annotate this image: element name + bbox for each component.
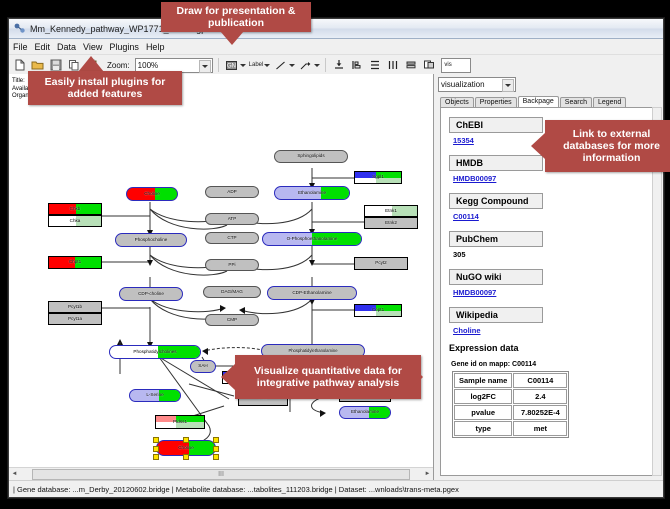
- table-cell-key: log2FC: [454, 389, 512, 404]
- chevron-down-icon[interactable]: [502, 79, 514, 92]
- menu-item-edit[interactable]: Edit: [35, 42, 51, 52]
- table-cell-key: pvalue: [454, 405, 512, 420]
- node-label: CDP-Ethanolamine: [292, 291, 331, 296]
- callout-plugins: Easily install plugins for added feature…: [28, 71, 182, 105]
- node-label: Ethanolamine: [351, 410, 379, 415]
- table-cell-key: type: [454, 421, 512, 436]
- node-label: O-Phosphoethanolamine: [287, 237, 338, 242]
- node-label: Ethanolamine: [298, 191, 326, 196]
- node-ppi[interactable]: PPi: [205, 259, 259, 271]
- node-l-serine-left[interactable]: L-Serine: [129, 389, 181, 402]
- node-cdp-choline[interactable]: CDP-choline: [119, 287, 183, 301]
- distribute-horizontal-icon[interactable]: [385, 58, 400, 73]
- node-label: ADP: [227, 190, 236, 195]
- node-cmp[interactable]: CMP: [205, 314, 259, 326]
- callout-visualize: Visualize quantitative data for integrat…: [235, 355, 421, 399]
- selection-handle[interactable]: [213, 446, 219, 452]
- callout-plugins-arrow-icon: [78, 56, 104, 72]
- scroll-thumb[interactable]: III: [32, 469, 410, 480]
- selection-handle[interactable]: [153, 454, 159, 460]
- zoom-value: 100%: [138, 61, 158, 70]
- svg-text:GN: GN: [227, 63, 236, 69]
- table-row: Sample name C00114: [454, 373, 567, 388]
- node-phosphocholine[interactable]: Phosphocholine: [115, 233, 187, 247]
- gene-id-line: Gene id on mapp: C00114: [451, 361, 644, 368]
- align-top-icon[interactable]: [331, 58, 346, 73]
- callout-draw: Draw for presentation & publication: [161, 2, 311, 32]
- table-cell-value: 7.80252E-4: [513, 405, 567, 420]
- tab-legend[interactable]: Legend: [593, 97, 626, 107]
- db-header-wikipedia: Wikipedia: [449, 307, 543, 323]
- status-bar: | Gene database: ...m_Derby_20120602.bri…: [9, 480, 663, 497]
- pathway-editor-pane[interactable]: Title: Availab Organis: [9, 74, 434, 480]
- selection-handle[interactable]: [213, 454, 219, 460]
- canvas-horizontal-scrollbar[interactable]: ◄ III ►: [9, 467, 433, 480]
- node-label: DAG/MAG: [221, 290, 243, 295]
- line-tool-dropdown[interactable]: [273, 58, 295, 73]
- table-row: type met: [454, 421, 567, 436]
- gene-label: Etnk2: [385, 221, 397, 226]
- menu-item-help[interactable]: Help: [146, 42, 165, 52]
- expression-table: Sample name C00114 log2FC 2.4 pvalue 7.8…: [452, 371, 569, 438]
- align-left-icon[interactable]: [349, 58, 364, 73]
- node-phosphatidylcholines[interactable]: Phosphatidylcholines: [109, 345, 201, 359]
- node-sah[interactable]: SAH: [190, 360, 216, 373]
- gene-pcyt1b[interactable]: Pcyt1b: [48, 301, 102, 313]
- node-sphingolipids[interactable]: Sphingolipids: [274, 150, 348, 163]
- screenshot-root: Mm_Kennedy_pathway_WP1771_45176.gpml Fil…: [0, 0, 670, 509]
- node-ethanolamine-top[interactable]: Ethanolamine: [274, 186, 350, 200]
- gene-etnk2[interactable]: Etnk2: [364, 217, 418, 229]
- callout-visualize-arrow-right-icon: [409, 363, 423, 391]
- gene-label: Pcyt1b: [68, 305, 82, 310]
- gene-label: Chkb: [70, 207, 81, 212]
- db-header-nugo-wiki: NuGO wiki: [449, 269, 543, 285]
- chevron-down-icon[interactable]: [289, 64, 295, 67]
- gene-label: Chpt1: [69, 260, 81, 265]
- zoom-label: Zoom:: [107, 61, 130, 70]
- callout-links-text: Link to external databases for more info…: [549, 128, 670, 164]
- pathvisio-icon: [13, 22, 26, 35]
- node-ethanolamine-right[interactable]: Ethanolamine: [339, 406, 391, 419]
- gene-label: Cept1: [372, 308, 384, 313]
- expression-data-heading: Expression data: [449, 343, 644, 353]
- menubar: File Edit Data View Plugins Help: [9, 39, 663, 55]
- node-label: CMP: [227, 318, 237, 323]
- scroll-grip: III: [218, 471, 224, 478]
- callout-plugins-text: Easily install plugins for added feature…: [32, 76, 178, 100]
- line-icon[interactable]: [273, 58, 288, 73]
- gene-label: Ptdss1: [173, 420, 187, 425]
- callout-links: Link to external databases for more info…: [545, 120, 670, 172]
- selection-handle[interactable]: [183, 454, 189, 460]
- table-cell-value: C00114: [513, 373, 567, 388]
- db-header-kegg-compound: Kegg Compound: [449, 193, 543, 209]
- node-label: PPi: [228, 263, 235, 268]
- new-file-icon[interactable]: [12, 58, 27, 73]
- selection-handle[interactable]: [183, 437, 189, 443]
- visualization-value: visualization: [441, 80, 485, 89]
- gene-chkb[interactable]: Chkb: [48, 203, 102, 215]
- toolbar-separator: [218, 58, 219, 72]
- table-cell-value: met: [513, 421, 567, 436]
- scroll-left-arrow-icon[interactable]: ◄: [9, 469, 20, 479]
- chevron-down-icon[interactable]: [199, 60, 211, 73]
- node-adp[interactable]: ADP: [205, 186, 259, 198]
- gene-etnk1[interactable]: Etnk1: [364, 205, 418, 217]
- callout-visualize-text: Visualize quantitative data for integrat…: [241, 365, 415, 389]
- table-row: pvalue 7.80252E-4: [454, 405, 567, 420]
- gene-label: Sgpl1: [372, 175, 384, 180]
- node-label: SAH: [198, 364, 207, 369]
- node-label: CDP-choline: [138, 292, 164, 297]
- gene-label: Etnk1: [385, 209, 397, 214]
- chevron-down-icon[interactable]: [240, 64, 246, 67]
- gene-pcyt2[interactable]: Pcyt2: [354, 257, 408, 270]
- node-o-phosphoethanolamine[interactable]: O-Phosphoethanolamine: [262, 232, 362, 246]
- db-link-wikipedia[interactable]: Choline: [453, 326, 644, 335]
- label-dropdown-label: Label: [249, 62, 264, 68]
- side-panel-tabs: Objects Properties Backpage Search Legen…: [440, 94, 663, 107]
- db-header-pubchem: PubChem: [449, 231, 543, 247]
- menu-item-view[interactable]: View: [83, 42, 102, 52]
- node-label: Phosphocholine: [135, 238, 168, 243]
- node-label: CTP: [227, 236, 236, 241]
- datanode-dropdown[interactable]: GN: [224, 58, 246, 73]
- db-value-pubchem: 305: [453, 250, 644, 259]
- table-row: log2FC 2.4: [454, 389, 567, 404]
- datanode-icon[interactable]: GN: [224, 58, 239, 73]
- node-ctp[interactable]: CTP: [205, 232, 259, 244]
- anchor-arrow-icon[interactable]: [298, 58, 313, 73]
- selection-handle[interactable]: [213, 437, 219, 443]
- node-label: Sphingolipids: [297, 154, 324, 159]
- tab-properties[interactable]: Properties: [475, 97, 517, 107]
- chevron-down-icon[interactable]: [314, 64, 320, 67]
- selection-handle[interactable]: [153, 446, 159, 452]
- node-label: Phosphatidylcholines: [133, 350, 176, 355]
- node-cdp-ethanolamine[interactable]: CDP-Ethanolamine: [267, 286, 357, 300]
- db-header-chebi: ChEBI: [449, 117, 543, 133]
- overflow-combo-value: vis: [444, 62, 451, 68]
- menu-item-plugins[interactable]: Plugins: [109, 42, 139, 52]
- gene-ptdss1[interactable]: Ptdss1: [155, 415, 205, 429]
- scroll-right-arrow-icon[interactable]: ►: [422, 469, 433, 479]
- interaction-tool-dropdown[interactable]: [298, 58, 320, 73]
- pathway-canvas[interactable]: Sphingolipids Ethanolamine O-Phosphoetha…: [9, 74, 433, 468]
- node-label: Phosphatidylethanolamine: [288, 349, 337, 353]
- visualization-row: visualization: [434, 74, 663, 92]
- menu-item-data[interactable]: Data: [57, 42, 76, 52]
- node-choline-top[interactable]: Choline: [126, 187, 178, 201]
- tab-objects[interactable]: Objects: [440, 97, 474, 107]
- gene-label: Pcyt1a: [68, 317, 82, 322]
- visualization-combo[interactable]: visualization: [438, 77, 516, 92]
- label-dropdown[interactable]: Label: [249, 62, 271, 68]
- gene-label: Pcyt2: [375, 261, 387, 266]
- db-link-hmdb[interactable]: HMDB00097: [453, 174, 644, 183]
- gene-pcyt1a[interactable]: Pcyt1a: [48, 313, 102, 325]
- node-atp[interactable]: ATP: [205, 213, 259, 225]
- gene-chpt1[interactable]: Chpt1: [48, 256, 102, 269]
- table-cell-key: Sample name: [454, 373, 512, 388]
- callout-links-arrow-icon: [531, 133, 545, 159]
- order-front-icon[interactable]: [421, 58, 436, 73]
- db-header-hmdb: HMDB: [449, 155, 543, 171]
- gene-chka[interactable]: Chka: [48, 215, 102, 227]
- node-label: Choline: [144, 192, 160, 197]
- gene-cept1[interactable]: Cept1: [354, 304, 402, 317]
- db-link-nugo-wiki[interactable]: HMDB00097: [453, 288, 644, 297]
- toolbar-separator: [325, 58, 326, 72]
- menu-item-file[interactable]: File: [13, 42, 28, 52]
- status-bar-text: | Gene database: ...m_Derby_20120602.bri…: [9, 485, 459, 494]
- db-link-kegg-compound[interactable]: C00114: [453, 212, 644, 221]
- distribute-vertical-icon[interactable]: [367, 58, 382, 73]
- overflow-combo[interactable]: vis: [441, 58, 471, 73]
- window-titlebar[interactable]: Mm_Kennedy_pathway_WP1771_45176.gpml: [9, 19, 663, 39]
- tab-search[interactable]: Search: [560, 97, 592, 107]
- gene-label: Chka: [70, 219, 81, 224]
- stack-icon[interactable]: [403, 58, 418, 73]
- table-cell-value: 2.4: [513, 389, 567, 404]
- node-label: ATP: [228, 217, 237, 222]
- node-label: Choline: [178, 446, 194, 451]
- callout-visualize-arrow-left-icon: [221, 364, 235, 390]
- node-label: L-Serine: [146, 393, 163, 398]
- callout-draw-text: Draw for presentation & publication: [165, 5, 307, 29]
- gene-sgpl1[interactable]: Sgpl1: [354, 171, 402, 184]
- callout-draw-arrow-icon: [220, 31, 244, 45]
- node-dagmag[interactable]: DAG/MAG: [203, 286, 261, 298]
- tab-backpage[interactable]: Backpage: [518, 96, 559, 107]
- selection-handle[interactable]: [153, 437, 159, 443]
- chevron-down-icon[interactable]: [264, 64, 270, 67]
